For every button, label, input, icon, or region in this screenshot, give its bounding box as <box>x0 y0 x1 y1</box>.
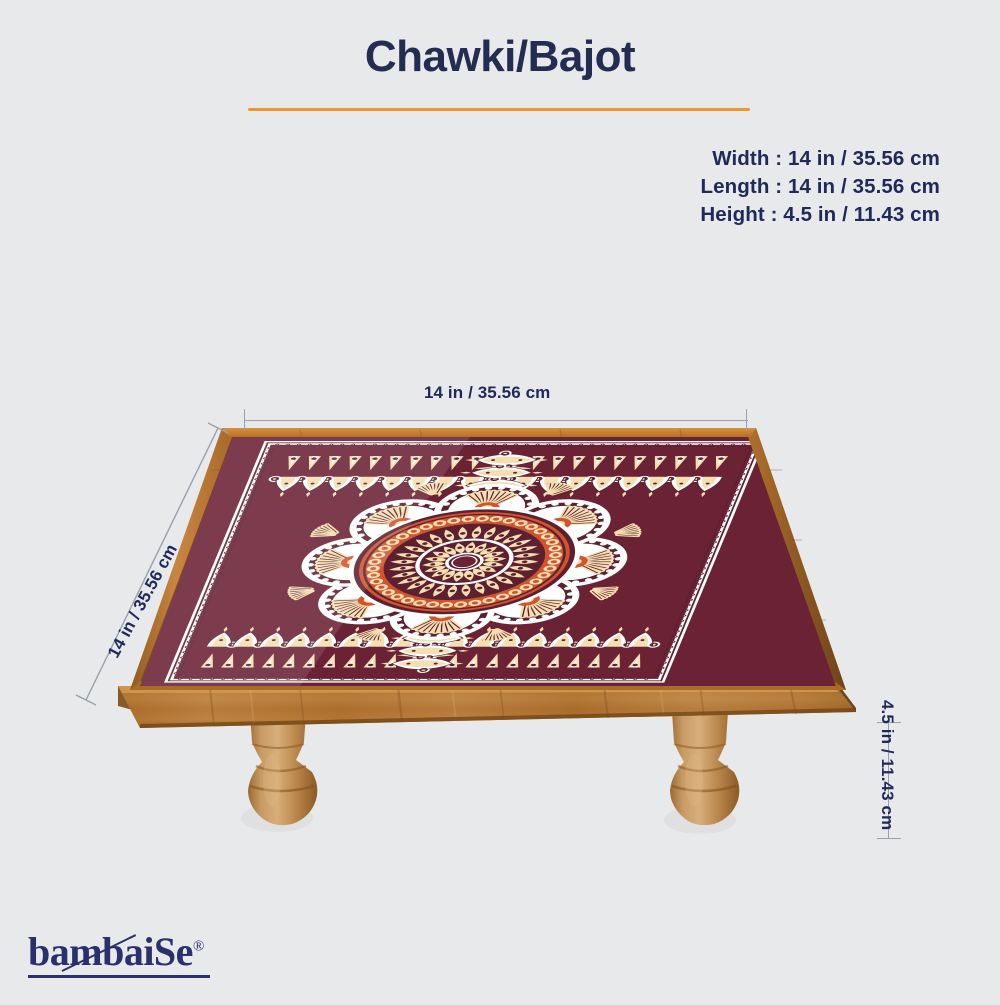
dimension-top-cap-left <box>244 409 245 431</box>
brand-logo-text: bambaiSe <box>28 929 193 974</box>
brand-logo[interactable]: bambaiSe® <box>28 932 204 972</box>
table-svg <box>0 0 1000 1000</box>
product-illustration <box>0 0 1000 1000</box>
dimension-top-cap-right <box>746 409 747 431</box>
dimension-right-label: 4.5 in / 11.43 cm <box>877 700 897 830</box>
leg-left <box>241 712 317 832</box>
leg-right <box>664 712 739 834</box>
dimension-right-cap-bottom <box>877 838 901 839</box>
table-apron <box>118 684 856 728</box>
brand-logo-underline <box>28 975 210 978</box>
table-legs <box>241 712 739 834</box>
registered-trademark-icon: ® <box>193 939 204 955</box>
dimension-top-label: 14 in / 35.56 cm <box>424 383 550 403</box>
dimension-top-line <box>244 420 748 421</box>
infographic-canvas: Chawki/Bajot Width : 14 in / 35.56 cm Le… <box>0 0 1000 1000</box>
